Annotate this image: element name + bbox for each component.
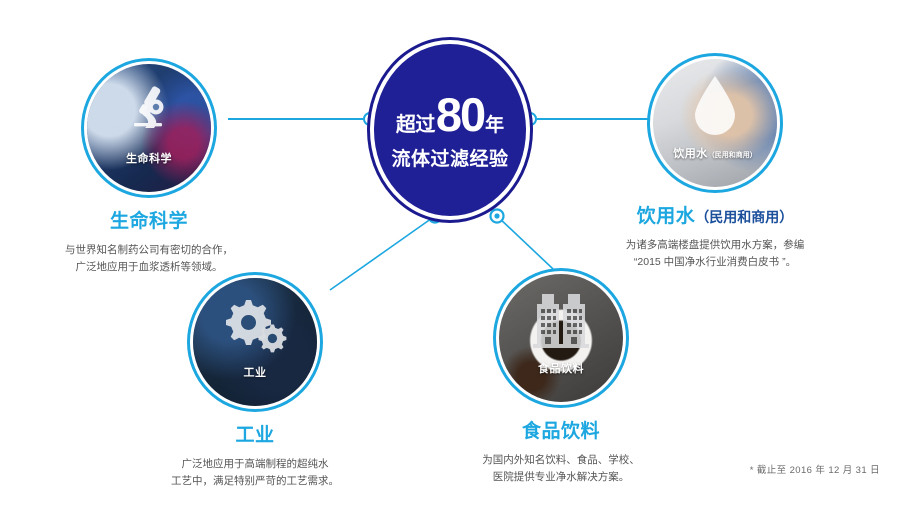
photo-drinking-water[interactable]: 饮用水（民用和商用） [647,53,783,193]
photo-food-beverage[interactable]: 食品饮料 [493,268,629,408]
node-drinking-water[interactable]: 饮用水（民用和商用） 饮用水（民用和商用） 为诸多高端楼盘提供饮用水方案，参编 … [590,53,840,272]
buildings-icon [531,290,591,352]
desc-line: 医院提供专业净水解决方案。 [436,469,686,486]
photo-industry[interactable]: 工业 [187,272,323,412]
photo-overlay-label: 生命科学 [81,150,217,166]
infographic-canvas: 超过 80 年 流体过滤经验 [0,0,900,510]
desc-line: 工艺中，满足特别严苛的工艺需求。 [130,473,380,490]
desc-line: 广泛地应用于高端制程的超纯水 [130,456,380,473]
node-title-text: 生命科学 [110,211,188,232]
footnote: * 截止至 2016 年 12 月 31 日 [750,462,880,476]
hub-headline: 超过 80 年 [396,91,504,138]
node-title-paren: （民用和商用） [695,209,793,225]
node-desc-drinking-water: 为诸多高端楼盘提供饮用水方案，参编 “2015 中国净水行业消费白皮书 ”。 [590,237,840,272]
node-title-food-beverage: 食品饮料 [436,422,686,443]
photo-overlay-label: 食品饮料 [493,360,629,376]
desc-line: 与世界知名制药公司有密切的合作， [24,242,274,259]
node-title-text: 工业 [235,425,274,446]
microscope-icon [118,83,180,139]
overlay-text: 食品饮料 [538,363,584,375]
node-desc-industry: 广泛地应用于高端制程的超纯水 工艺中，满足特别严苛的工艺需求。 [130,456,380,491]
central-hub-inner: 超过 80 年 流体过滤经验 [374,44,526,216]
gears-icon [222,296,288,354]
overlay-text: 生命科学 [126,153,172,165]
photo-overlay-label: 工业 [187,364,323,380]
water-drop-icon [689,73,741,139]
node-title-drinking-water: 饮用水（民用和商用） [590,207,840,228]
hub-number: 80 [436,91,484,138]
node-title-text: 食品饮料 [522,421,600,442]
hub-subtitle: 流体过滤经验 [391,150,508,169]
hub-suffix: 年 [485,116,504,135]
overlay-subtext: （民用和商用） [708,152,757,159]
overlay-text: 饮用水 [673,148,708,160]
hub-prefix: 超过 [396,115,435,135]
node-industry[interactable]: 工业 工业 广泛地应用于高端制程的超纯水 工艺中，满足特别严苛的工艺需求。 [130,272,380,491]
photo-life-science[interactable]: 生命科学 [81,58,217,198]
overlay-text: 工业 [244,367,267,379]
node-life-science[interactable]: 生命科学 生命科学 与世界知名制药公司有密切的合作， 广泛地应用于血浆透析等领域… [24,58,274,277]
desc-line: 为国内外知名饮料、食品、学校、 [436,452,686,469]
connector-node-bottom-right [491,210,504,223]
node-food-beverage[interactable]: 食品饮料 食品饮料 为国内外知名饮料、食品、学校、 医院提供专业净水解决方案。 [436,268,686,487]
node-desc-food-beverage: 为国内外知名饮料、食品、学校、 医院提供专业净水解决方案。 [436,452,686,487]
node-title-text: 饮用水 [637,206,696,227]
node-title-industry: 工业 [130,426,380,447]
central-hub: 超过 80 年 流体过滤经验 [367,37,533,223]
desc-line: 为诸多高端楼盘提供饮用水方案，参编 [590,237,840,254]
node-title-life-science: 生命科学 [24,212,274,233]
photo-overlay-label: 饮用水（民用和商用） [647,145,783,161]
